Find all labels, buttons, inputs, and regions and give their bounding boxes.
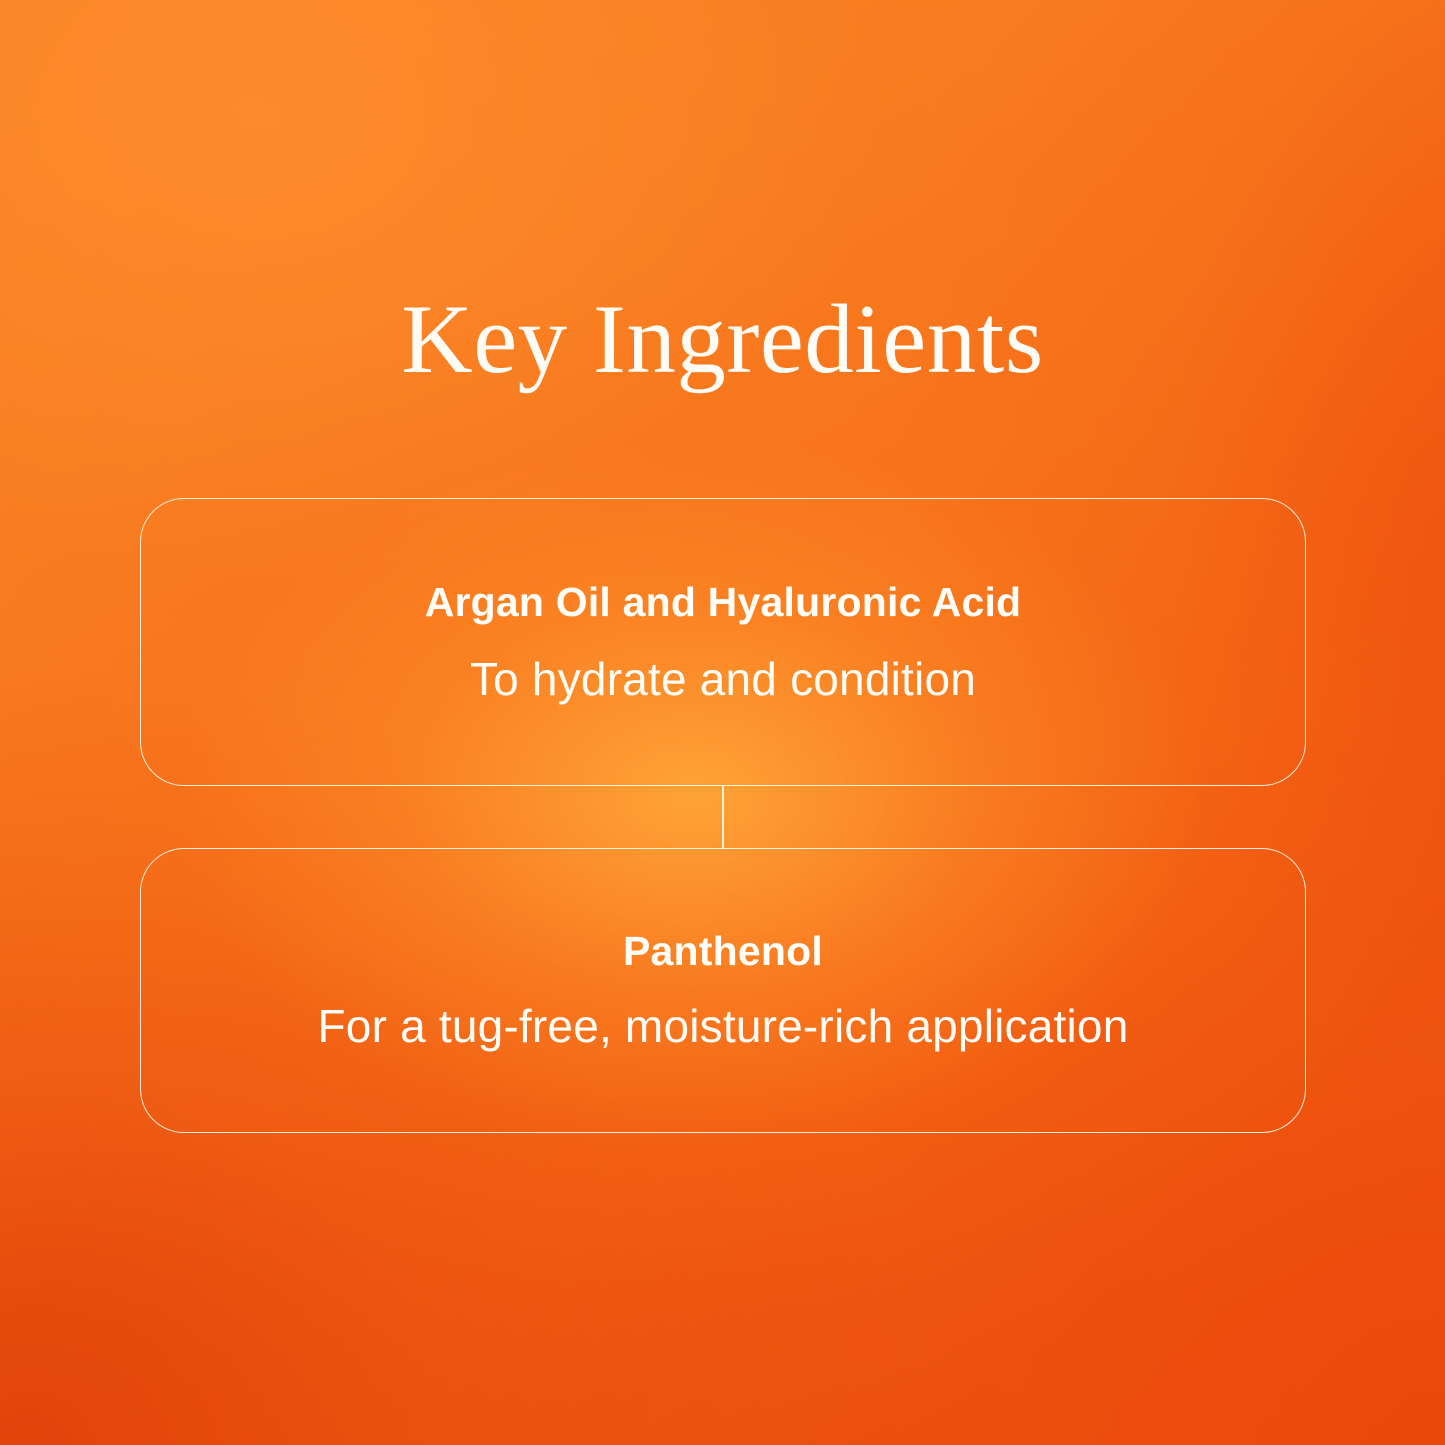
key-ingredients-panel: Key Ingredients Argan Oil and Hyaluronic… xyxy=(0,0,1445,1445)
page-title: Key Ingredients xyxy=(0,288,1445,392)
ingredient-name: Panthenol xyxy=(623,928,823,975)
ingredient-card-argan-oil: Argan Oil and Hyaluronic Acid To hydrate… xyxy=(140,498,1306,786)
ingredient-benefit: To hydrate and condition xyxy=(470,652,976,706)
ingredient-benefit: For a tug-free, moisture-rich applicatio… xyxy=(318,999,1129,1053)
card-connector-line xyxy=(722,785,724,849)
ingredient-card-panthenol: Panthenol For a tug-free, moisture-rich … xyxy=(140,848,1306,1133)
ingredient-name: Argan Oil and Hyaluronic Acid xyxy=(425,579,1022,626)
